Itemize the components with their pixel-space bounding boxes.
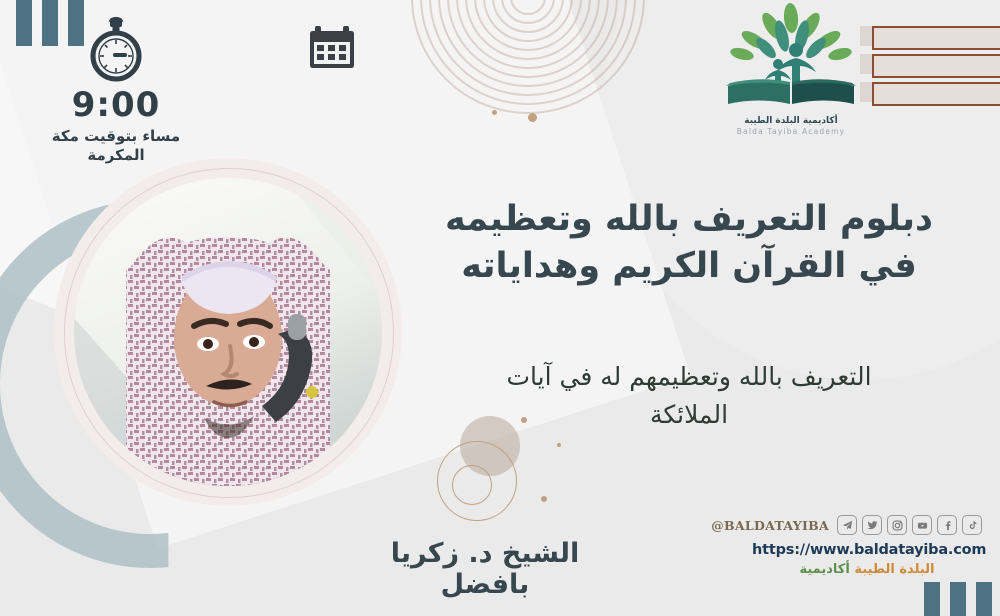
speaker-name: الشيخ د. زكريا بافضل [345, 538, 625, 600]
corner-bars-bottom-right [924, 582, 992, 616]
promo-poster: 9:00 مساء بتوقيت مكة المكرمة [0, 0, 1000, 616]
twitter-icon[interactable] [862, 515, 882, 535]
logo-name-arabic: أكاديمية البلدة الطيبة [706, 116, 876, 126]
timezone-line-1: مساء بتوقيت مكة [52, 127, 180, 145]
course-title-line-1: دبلوم التعريف بالله وتعظيمه [445, 199, 933, 239]
schedule-time-block: 9:00 مساء بتوقيت مكة المكرمة [42, 10, 190, 165]
event-timezone: مساء بتوقيت مكة المكرمة [42, 127, 190, 165]
tiktok-icon[interactable] [962, 515, 982, 535]
logo-mark-tree-book-icon [716, 2, 866, 114]
decor-dot [557, 443, 561, 447]
course-title: دبلوم التعريف بالله وتعظيمه في القرآن ال… [402, 196, 976, 291]
course-title-line-2: في القرآن الكريم وهداياته [461, 246, 917, 286]
timezone-line-2: المكرمة [87, 146, 144, 164]
calendar-icon [306, 24, 358, 72]
youtube-icon[interactable] [912, 515, 932, 535]
footer-academy-name-part2: البلدة الطيبة [854, 562, 934, 577]
portrait-illustration [74, 178, 382, 486]
facebook-icon[interactable] [937, 515, 957, 535]
stopwatch-icon [83, 10, 149, 84]
academy-logo: أكاديمية البلدة الطيبة Balda Tayiba Acad… [706, 2, 876, 136]
website-url[interactable]: https://www.baldatayiba.com [752, 542, 982, 558]
speaker-portrait [74, 178, 382, 486]
decor-dot [492, 110, 497, 115]
event-time: 9:00 [42, 88, 190, 122]
decor-dot [541, 496, 547, 502]
logo-name-english: Balda Tayiba Academy [706, 127, 876, 136]
decor-dot [528, 113, 537, 122]
decor-dot [521, 417, 527, 423]
course-subtitle-line-1: التعريف بالله وتعظيمهم له في آيات [506, 362, 871, 391]
instagram-icon[interactable] [887, 515, 907, 535]
decor-ring-small [452, 465, 492, 505]
social-handle: @BALDATAYIBA [711, 518, 829, 533]
footer-academy-name: البلدة الطيبة أكاديمية [752, 562, 982, 577]
footer-academy-name-part1: أكاديمية [799, 562, 849, 577]
social-links-row[interactable]: @BALDATAYIBA [711, 515, 982, 535]
outline-bars-top-right [860, 26, 1000, 110]
telegram-icon[interactable] [837, 515, 857, 535]
course-subtitle-line-2: الملائكة [650, 400, 728, 429]
